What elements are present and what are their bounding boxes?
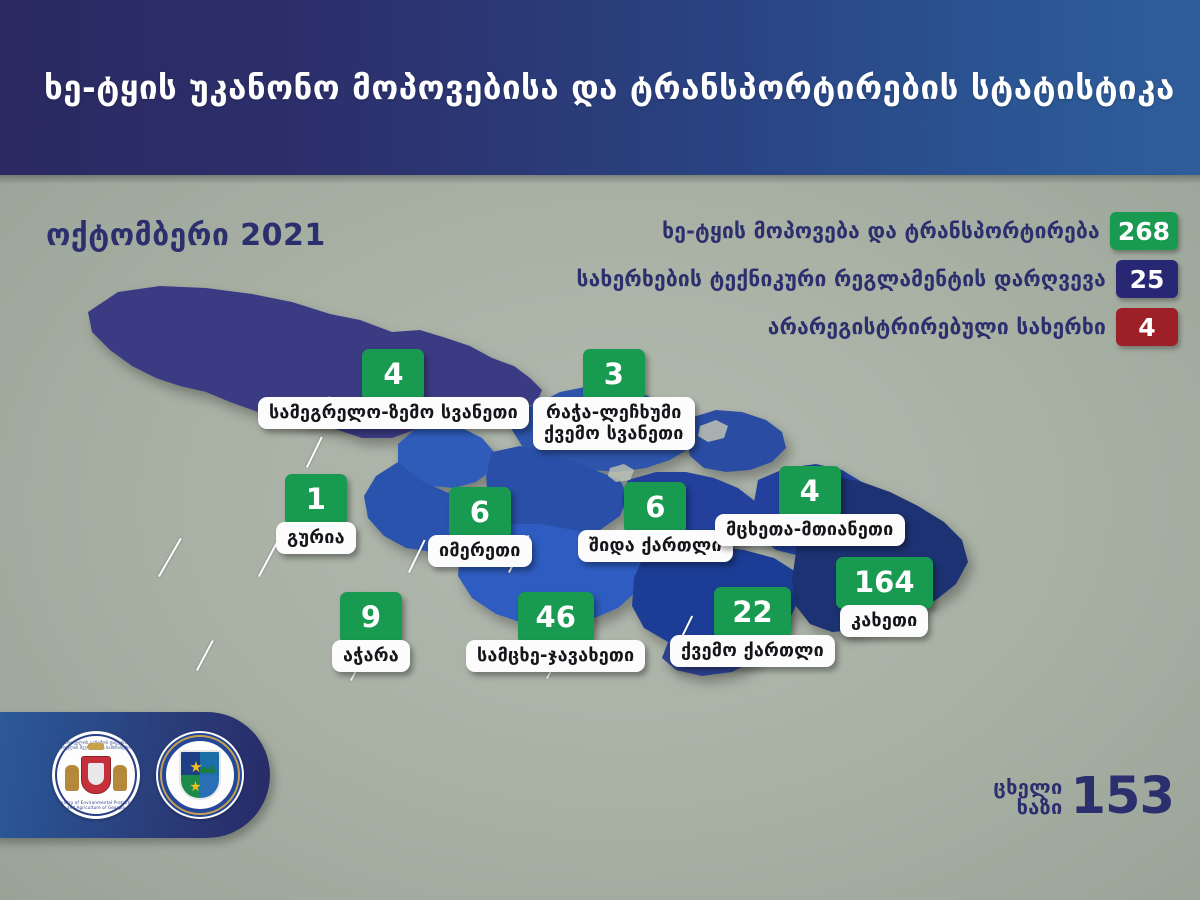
seal-bottom-text: Ministry of Environmental Protection and… [52,800,140,810]
marker-label: რაჭა-ლეჩხუმი ქვემო სვანეთი [533,397,695,450]
legend-value-badge: 268 [1110,212,1178,250]
legend-value-badge: 25 [1116,260,1178,298]
marker-label: კახეთი [840,605,928,637]
environmental-supervision-seal-icon [156,731,244,819]
marker-label: აჭარა [332,640,410,672]
map-marker-shida-kartli[interactable]: 6 შიდა ქართლი [578,482,733,562]
map-marker-samtskhe-javakheti[interactable]: 46 სამცხე-ჯავახეთი [466,592,645,672]
hotline-label-line1: ცხელი [993,777,1062,797]
marker-label: სამეგრელო-ზემო სვანეთი [258,397,529,429]
marker-value: 3 [583,349,645,401]
marker-value: 4 [362,349,424,401]
page-title: ხე-ტყის უკანონო მოპოვებისა და ტრანსპორტი… [0,68,1175,107]
map-marker-kvemo-kartli[interactable]: 22 ქვემო ქართლი [670,587,835,667]
map-marker-mtskheta-mtianeti[interactable]: 4 მცხეთა-მთიანეთი [715,466,905,546]
marker-value: 6 [624,482,686,534]
coat-of-arms-icon [81,756,111,794]
logo-pill: საქართველოს გარემოს დაცვისა და სოფლის მე… [0,712,270,838]
marker-label: შიდა ქართლი [578,530,733,562]
infographic-canvas: ხე-ტყის უკანონო მოპოვებისა და ტრანსპორტი… [0,0,1200,900]
map-marker-samegrelo[interactable]: 4 სამეგრელო-ზემო სვანეთი [258,349,529,429]
map-marker-kakheti[interactable]: 164 კახეთი [836,557,933,637]
legend-value-badge: 4 [1116,308,1178,346]
map-marker-adjara[interactable]: 9 აჭარა [332,592,410,672]
header-banner: ხე-ტყის უკანონო მოპოვებისა და ტრანსპორტი… [0,0,1200,175]
hotline-label: ცხელი ხაზი [993,777,1062,817]
marker-value: 4 [779,466,841,518]
map-marker-guria[interactable]: 1 გურია [276,474,356,554]
marker-value: 164 [836,557,933,609]
crown-icon [88,743,104,750]
hotline-label-line2: ხაზი [993,797,1062,817]
shield-quadrant [181,752,200,775]
marker-label: მცხეთა-მთიანეთი [715,514,905,546]
shield-icon [179,750,221,800]
region-racha-lechkhumi [686,410,786,472]
marker-label: სამცხე-ჯავახეთი [466,640,645,672]
hotline: ცხელი ხაზი 153 [993,774,1174,821]
marker-value: 1 [285,474,347,526]
marker-label: გურია [276,522,356,554]
hotline-number: 153 [1071,774,1174,821]
marker-value: 46 [518,592,594,644]
ministry-seal-icon: საქართველოს გარემოს დაცვისა და სოფლის მე… [52,731,140,819]
marker-label: იმერეთი [428,535,532,567]
lion-left-icon [65,765,79,791]
lion-right-icon [113,765,127,791]
map-marker-imereti[interactable]: 6 იმერეთი [428,487,532,567]
marker-label: ქვემო ქართლი [670,635,835,667]
marker-value: 22 [714,587,790,639]
marker-value: 6 [449,487,511,539]
map-marker-racha[interactable]: 3 რაჭა-ლეჩხუმი ქვემო სვანეთი [533,349,695,450]
marker-value: 9 [340,592,402,644]
